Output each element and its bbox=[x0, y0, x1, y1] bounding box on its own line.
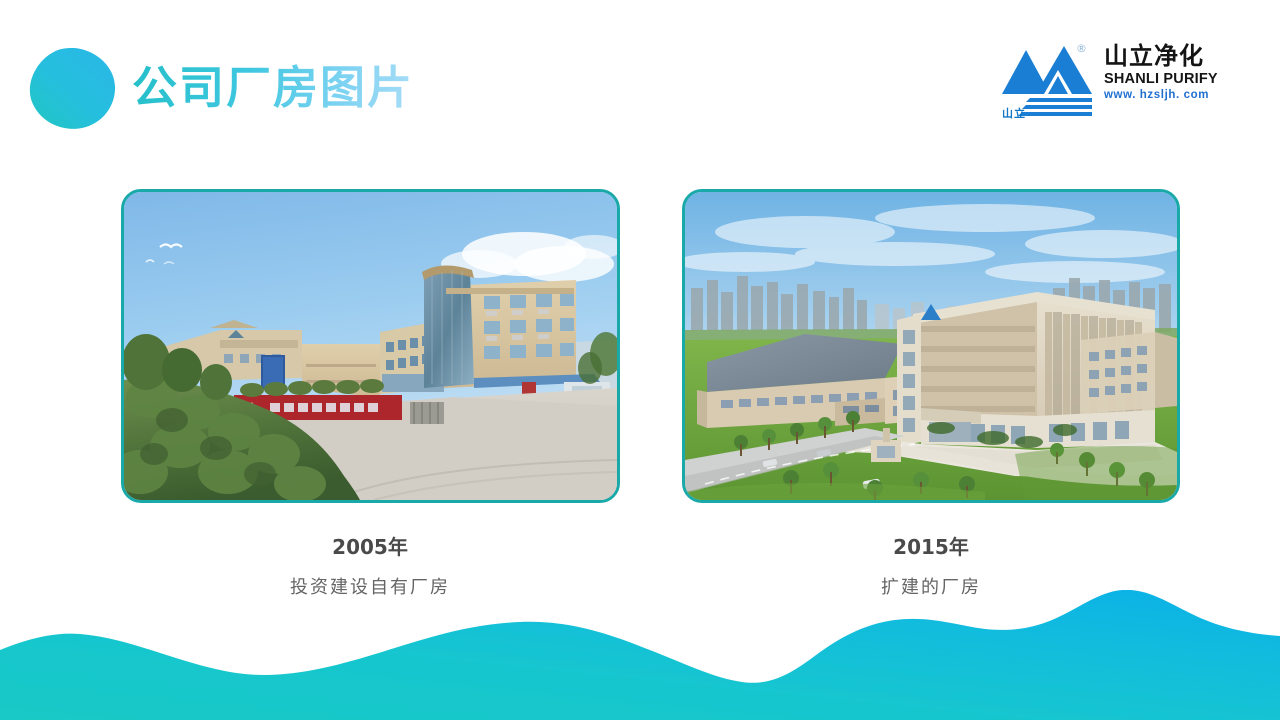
company-logo: ® 山立 山立净化 SHANLI PURIFY www. hzsljh. com bbox=[1000, 36, 1218, 122]
photo-2015-frame[interactable] bbox=[682, 189, 1180, 503]
logo-website-url: www. hzsljh. com bbox=[1104, 89, 1220, 103]
logo-mark-label: 山立 bbox=[1002, 108, 1026, 119]
bottom-wave-decoration bbox=[0, 590, 1280, 720]
registered-trademark-icon: ® bbox=[1076, 42, 1087, 55]
logo-wordmark: 山立净化 SHANLI PURIFY www. hzsljh. com bbox=[1104, 44, 1220, 102]
logo-company-name-en: SHANLI PURIFY bbox=[1104, 71, 1220, 88]
page-title: 公司厂房图片 bbox=[132, 62, 414, 114]
logo-company-name-cn: 山立净化 bbox=[1104, 44, 1220, 70]
photo-2005-image bbox=[124, 192, 617, 500]
caption-year-2005: 2005年 bbox=[120, 534, 620, 560]
blob-decoration-icon bbox=[28, 46, 116, 130]
photo-2015-image bbox=[685, 192, 1177, 500]
photo-2005-frame[interactable] bbox=[121, 189, 620, 503]
slide-canvas: 公司厂房图片 ® 山立 山立净化 SHANLI PURIFY www. hzsl… bbox=[0, 0, 1280, 720]
caption-year-2015: 2015年 bbox=[681, 534, 1181, 560]
